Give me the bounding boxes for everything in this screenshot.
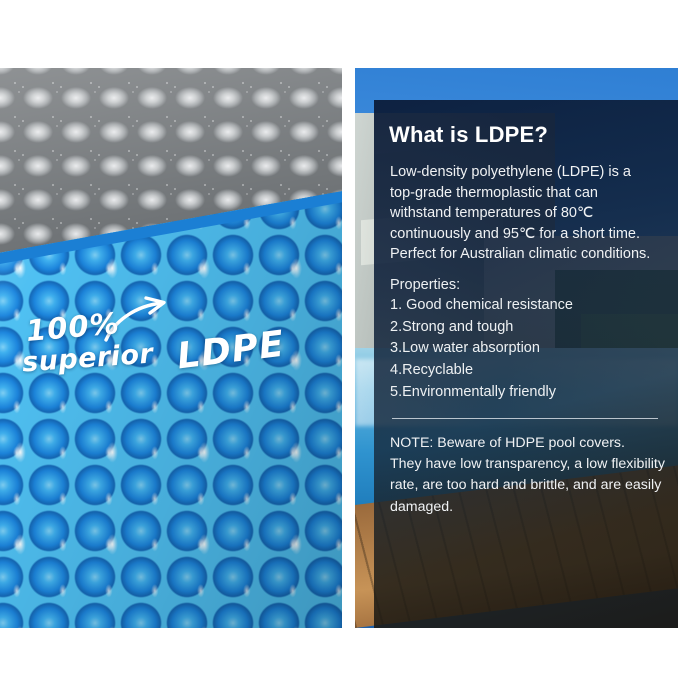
note-line-3: rate, are too hard and brittle, and are … — [390, 475, 664, 496]
note-line-2: They have low transparency, a low flexib… — [390, 454, 664, 475]
properties-heading: Properties: — [390, 277, 664, 293]
pool-cover-product-photo: 100% superior LDPE — [0, 68, 342, 628]
list-item: 5.Environmentally friendly — [390, 382, 664, 404]
info-overlay-box: What is LDPE? Low-density polyethylene (… — [374, 100, 678, 628]
page-canvas: 100% superior LDPE What is LDPE? Low-den… — [0, 0, 700, 700]
list-item: 4.Recyclable — [390, 360, 664, 382]
intro-paragraph: Low-density polyethylene (LDPE) is a top… — [390, 162, 664, 265]
note-line-1: NOTE: Beware of HDPE pool covers. — [390, 433, 664, 454]
intro-line-4: continuously and 95℃ for a short time. — [390, 224, 664, 245]
page-title: What is LDPE? — [389, 122, 664, 148]
intro-line-1: Low-density polyethylene (LDPE) is a — [390, 162, 664, 183]
note-line-4: damaged. — [390, 497, 664, 518]
intro-line-3: withstand temperatures of 80℃ — [390, 203, 664, 224]
properties-list: 1. Good chemical resistance 2.Strong and… — [390, 295, 664, 404]
intro-line-2: top-grade thermoplastic that can — [390, 183, 664, 204]
list-item: 2.Strong and tough — [390, 317, 664, 339]
list-item: 1. Good chemical resistance — [390, 295, 664, 317]
section-divider — [392, 418, 658, 419]
list-item: 3.Low water absorption — [390, 338, 664, 360]
note-paragraph: NOTE: Beware of HDPE pool covers. They h… — [390, 433, 664, 518]
ldpe-info-card: What is LDPE? Low-density polyethylene (… — [355, 68, 678, 628]
intro-line-5: Perfect for Australian climatic conditio… — [390, 244, 664, 265]
